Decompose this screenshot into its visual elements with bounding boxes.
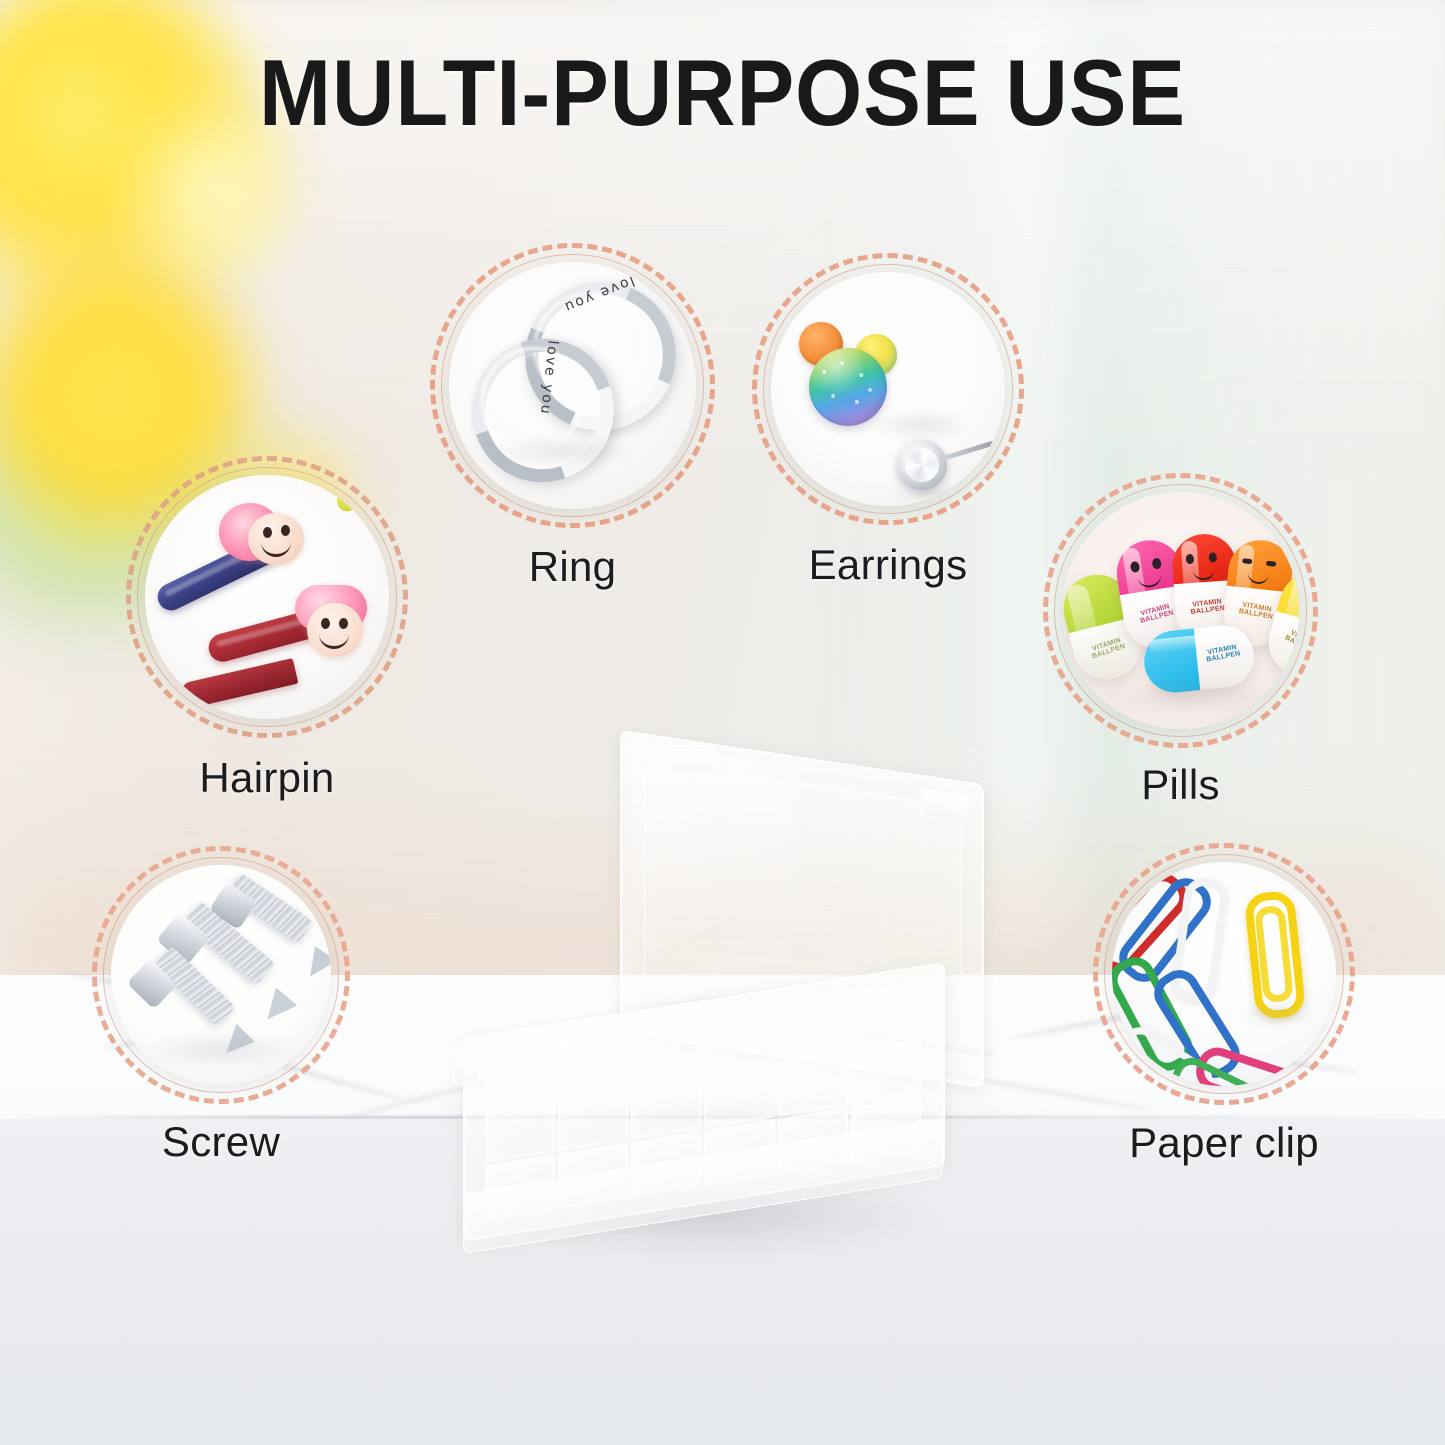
product-organizer-box [455,745,975,1315]
hairpin-photo [145,475,389,719]
feature-label-ring: Ring [529,543,617,591]
screw-tip-2 [257,988,298,1029]
earrings-photo [771,272,1005,506]
box-base-tray[interactable] [463,1000,941,1230]
pills-photo: VITAMIN BALLPEN VITAMIN BALLPEN [1062,492,1299,729]
feature-hairpin[interactable]: Hairpin [126,456,408,738]
hairpin-face-eye [263,527,272,538]
feature-label-screw: Screw [162,1118,280,1166]
feature-ring[interactable]: love you love you Ring [430,243,715,528]
hairpin-face-eye [321,618,330,629]
hairpin-character-face-1 [248,513,304,565]
compartment-cell[interactable] [485,1039,555,1105]
stud-shadow [889,484,969,502]
earring-crystal [905,448,939,482]
feature-screw[interactable]: Screw [92,846,350,1104]
feature-paperclip[interactable]: Paper clip [1093,843,1355,1105]
feature-earrings[interactable]: Earrings [752,253,1024,525]
compartment-cell[interactable] [704,1062,774,1128]
compartment-cell[interactable] [851,981,921,1047]
compartment-cell[interactable] [631,1016,701,1082]
ring-shadow [489,438,639,464]
feature-label-paperclip: Paper clip [1129,1119,1319,1167]
earring-stud [897,440,947,490]
compartment-cell[interactable] [631,1074,701,1140]
paperclip-shadow [1238,1002,1318,1024]
hairpin-face-eye [339,618,348,629]
screw-tip-1 [299,946,331,984]
compartment-cell[interactable] [558,1028,628,1094]
lid-latch-tab-left[interactable] [670,745,714,773]
tray-side-latch[interactable] [453,1046,479,1086]
compartment-cell[interactable] [485,1097,555,1163]
pills-shadow [1092,682,1282,712]
page-title: MULTI-PURPOSE USE [58,46,1387,140]
compartment-cell[interactable] [851,1039,921,1105]
feature-label-pills: Pills [1141,761,1220,809]
compartment-cell[interactable] [778,993,848,1059]
earring-shadow [871,412,971,438]
hairpin-clip-red-2 [178,658,299,710]
compartment-cell[interactable] [778,1051,848,1117]
compartment-cell[interactable] [558,1085,628,1151]
earring-post [943,441,994,461]
paperclip-photo [1112,862,1336,1086]
feature-label-earrings: Earrings [809,541,968,589]
earring-pave-sparkle [811,350,885,424]
hairpin-face-eye [281,525,290,536]
ring-photo: love you love you [449,262,696,509]
screw-photo [111,865,331,1085]
compartment-cell[interactable] [704,1005,774,1071]
lid-gloss [630,741,796,1030]
feature-pills[interactable]: VITAMIN BALLPEN VITAMIN BALLPEN [1043,473,1318,748]
hairpin-clip-yellow [333,475,389,515]
infographic-canvas: MULTI-PURPOSE USE [0,0,1445,1445]
feature-label-hairpin: Hairpin [199,754,334,802]
screw-washer-2 [111,892,141,931]
screw-shadow [145,1035,295,1065]
